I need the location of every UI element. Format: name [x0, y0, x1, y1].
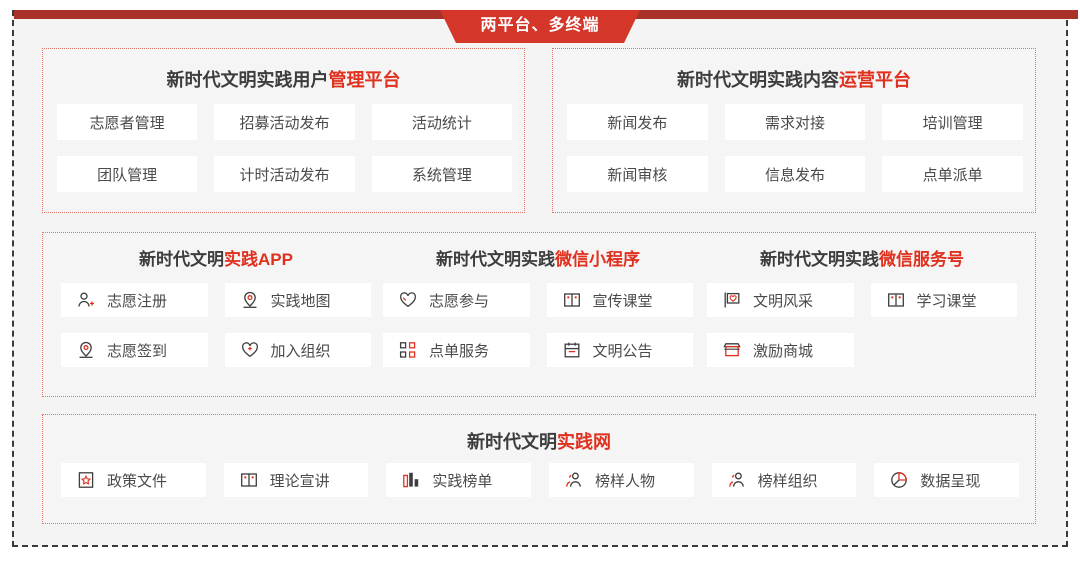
feature-button-role-model-organization[interactable]: 榜样组织 [712, 463, 857, 497]
panel-user-platform-title: 新时代文明实践用户管理平台 [43, 71, 524, 89]
terminal-service-account-feature-grid: 文明风采 学习课堂 激励商城 [707, 283, 1017, 367]
web-feature-grid: 政策文件 理论宣讲 实践榜单 榜样人物 榜样组织 数据呈现 [61, 463, 1019, 497]
feature-label: 宣传课堂 [593, 290, 653, 311]
user-platform-feature-grid: 志愿者管理 招募活动发布 活动统计 团队管理 计时活动发布 系统管理 [57, 104, 512, 192]
bar-chart-icon [402, 471, 420, 489]
banner-ribbon: 两平台、多终端 [440, 10, 640, 43]
terminal-column-title-service-account: 新时代文明实践微信服务号 [707, 251, 1017, 268]
panel-content-platform: 新时代文明实践内容运营平台 新闻发布 需求对接 培训管理 新闻审核 信息发布 点… [552, 48, 1036, 213]
feature-label: 实践榜单 [432, 470, 492, 491]
open-book-icon [887, 291, 905, 309]
feature-button-data-presentation[interactable]: 数据呈现 [874, 463, 1019, 497]
feature-label: 数据呈现 [920, 470, 980, 491]
feature-label: 文明风采 [753, 290, 813, 311]
shop-icon [723, 341, 741, 359]
doc-star-icon [77, 471, 95, 489]
feature-button-civilization-showcase[interactable]: 文明风采 [707, 283, 854, 317]
feature-button-volunteer-register[interactable]: 志愿注册 [61, 283, 208, 317]
user-add-icon [77, 291, 95, 309]
feature-button-volunteer-mgmt[interactable]: 志愿者管理 [57, 104, 197, 140]
feature-label: 学习课堂 [917, 290, 977, 311]
feature-button-join-organization[interactable]: 加入组织 [225, 333, 372, 367]
feature-button-system-mgmt[interactable]: 系统管理 [372, 156, 512, 192]
two-people-icon [728, 471, 746, 489]
heart-icon [399, 291, 417, 309]
content-platform-feature-grid: 新闻发布 需求对接 培训管理 新闻审核 信息发布 点单派单 [567, 104, 1023, 192]
terminal-app-feature-grid: 志愿注册 实践地图 志愿签到 加入组织 [61, 283, 371, 367]
feature-button-news-review[interactable]: 新闻审核 [567, 156, 708, 192]
feature-label: 理论宣讲 [270, 470, 330, 491]
feature-label: 榜样组织 [758, 470, 818, 491]
feature-button-practice-map[interactable]: 实践地图 [225, 283, 372, 317]
feature-button-role-model-people[interactable]: 榜样人物 [549, 463, 694, 497]
feature-label: 激励商城 [753, 340, 813, 361]
panel-content-platform-title: 新时代文明实践内容运营平台 [553, 71, 1035, 89]
feature-button-volunteer-participate[interactable]: 志愿参与 [383, 283, 530, 317]
feature-button-demand-match[interactable]: 需求对接 [725, 104, 866, 140]
feature-button-activity-stats[interactable]: 活动统计 [372, 104, 512, 140]
panel-terminals: 新时代文明实践APP 志愿注册 实践地图 志愿签到 加入组织 新时代文明实践微信… [42, 232, 1036, 397]
feature-button-info-publish[interactable]: 信息发布 [725, 156, 866, 192]
title-plain-text: 新时代文明实践 [760, 250, 879, 269]
feature-button-policy-documents[interactable]: 政策文件 [61, 463, 206, 497]
panel-web: 新时代文明实践网 政策文件 理论宣讲 实践榜单 榜样人物 榜样组织 数据呈现 [42, 414, 1036, 524]
heart-plus-icon [241, 341, 259, 359]
feature-button-study-classroom[interactable]: 学习课堂 [871, 283, 1018, 317]
calendar-icon [563, 341, 581, 359]
feature-button-order-dispatch[interactable]: 点单派单 [882, 156, 1023, 192]
feature-button-order-service[interactable]: 点单服务 [383, 333, 530, 367]
feature-button-recruit-publish[interactable]: 招募活动发布 [214, 104, 354, 140]
title-plain-text: 新时代文明实践 [436, 250, 555, 269]
feature-button-practice-ranking[interactable]: 实践榜单 [386, 463, 531, 497]
map-pin-check-icon [77, 341, 95, 359]
terminal-miniprogram-feature-grid: 志愿参与 宣传课堂 点单服务 文明公告 [383, 283, 693, 367]
title-plain-text: 新时代文明实践用户 [167, 70, 329, 90]
feature-button-news-publish[interactable]: 新闻发布 [567, 104, 708, 140]
title-plain-text: 新时代文明 [139, 250, 224, 269]
panel-user-platform: 新时代文明实践用户管理平台 志愿者管理 招募活动发布 活动统计 团队管理 计时活… [42, 48, 525, 213]
feature-label: 志愿参与 [429, 290, 489, 311]
feature-label: 加入组织 [271, 340, 331, 361]
feature-label: 文明公告 [593, 340, 653, 361]
open-book-icon [240, 471, 258, 489]
feature-label: 志愿注册 [107, 290, 167, 311]
title-accent-text: 实践APP [224, 250, 293, 269]
title-plain-text: 新时代文明 [467, 432, 557, 452]
pie-chart-icon [890, 471, 908, 489]
open-book-icon [563, 291, 581, 309]
title-plain-text: 新时代文明实践内容 [677, 70, 839, 90]
panel-web-title: 新时代文明实践网 [43, 433, 1035, 451]
terminal-column-title-miniprogram: 新时代文明实践微信小程序 [383, 251, 693, 268]
banner-label: 两平台、多终端 [480, 18, 599, 36]
feature-label: 志愿签到 [107, 340, 167, 361]
feature-button-civilization-notice[interactable]: 文明公告 [547, 333, 694, 367]
feature-button-training-mgmt[interactable]: 培训管理 [882, 104, 1023, 140]
feature-button-timed-activity-publish[interactable]: 计时活动发布 [214, 156, 354, 192]
terminal-column-title-app: 新时代文明实践APP [61, 251, 371, 268]
org-chart-icon [399, 341, 417, 359]
title-accent-text: 微信小程序 [555, 250, 640, 269]
flag-heart-icon [723, 291, 741, 309]
feature-button-publicity-classroom[interactable]: 宣传课堂 [547, 283, 694, 317]
map-pin-icon [241, 291, 259, 309]
feature-label: 点单服务 [429, 340, 489, 361]
feature-label: 政策文件 [107, 470, 167, 491]
feature-label: 榜样人物 [595, 470, 655, 491]
title-accent-text: 运营平台 [839, 70, 911, 90]
feature-button-theory-lecture[interactable]: 理论宣讲 [224, 463, 369, 497]
title-accent-text: 实践网 [557, 432, 611, 452]
feature-button-volunteer-checkin[interactable]: 志愿签到 [61, 333, 208, 367]
two-people-icon [565, 471, 583, 489]
feature-label: 实践地图 [271, 290, 331, 311]
title-accent-text: 微信服务号 [879, 250, 964, 269]
feature-button-incentive-mall[interactable]: 激励商城 [707, 333, 854, 367]
feature-button-team-mgmt[interactable]: 团队管理 [57, 156, 197, 192]
banner-ribbon-shape: 两平台、多终端 [440, 10, 640, 43]
title-accent-text: 管理平台 [329, 70, 401, 90]
